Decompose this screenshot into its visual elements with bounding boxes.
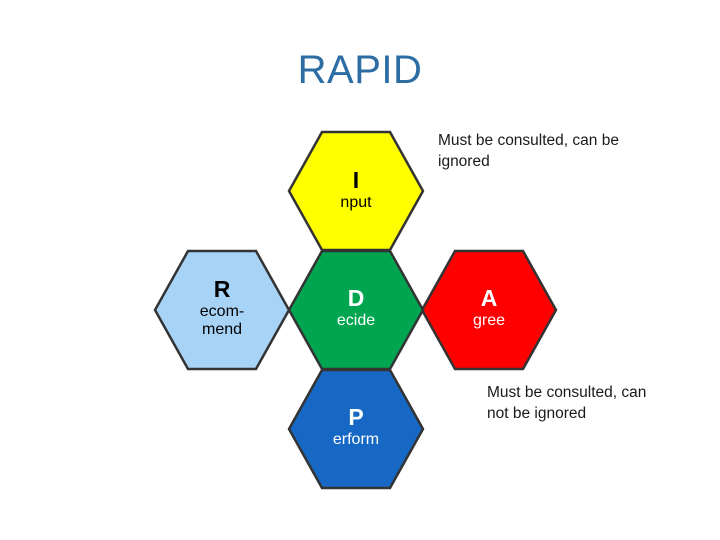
hexagon-agree[interactable] bbox=[422, 251, 556, 369]
hexagon-perform[interactable] bbox=[289, 370, 423, 488]
hexagon-shapes bbox=[0, 0, 720, 540]
hexagon-recommend[interactable] bbox=[155, 251, 289, 369]
hexagon-input[interactable] bbox=[289, 132, 423, 250]
annotation-agree-note: Must be consulted, can not be ignored bbox=[487, 383, 672, 425]
hexagon-decide[interactable] bbox=[289, 251, 423, 369]
rapid-hexagon-diagram: I nput R ecom- mend D ecide A gree P erf… bbox=[0, 0, 720, 540]
annotation-input-note: Must be consulted, can be ignored bbox=[438, 131, 648, 173]
slide-canvas: RAPID I nput R ecom- mend D ecid bbox=[0, 0, 720, 540]
